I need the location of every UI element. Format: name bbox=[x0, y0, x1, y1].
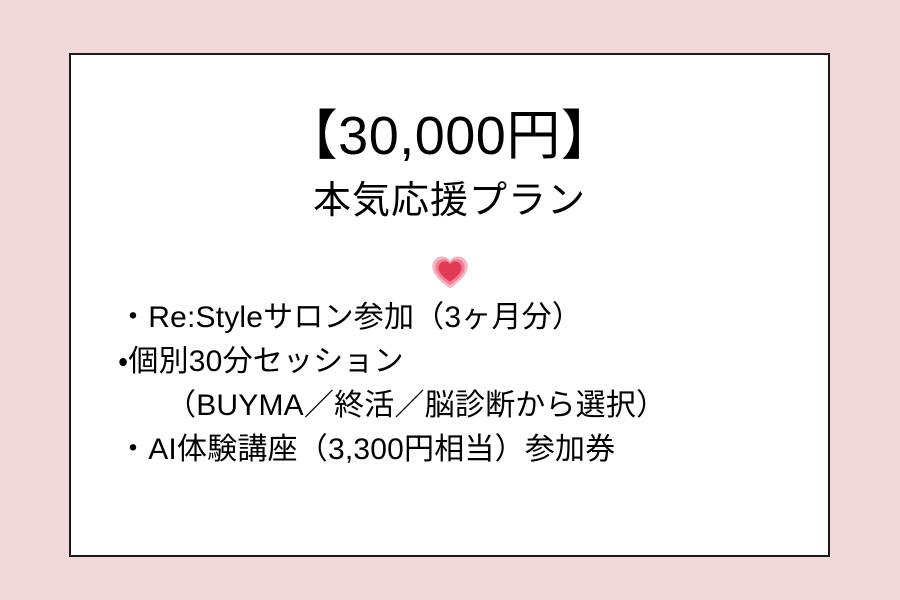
feature-item-continuation: （BUYMA／終活／脳診断から選択） bbox=[118, 384, 808, 428]
growing-heart-icon bbox=[431, 255, 469, 289]
plan-price-title: 【30,000円】 bbox=[71, 107, 828, 165]
feature-list: ・Re:Styleサロン参加（3ヶ月分） ・個別30分セッション （BUYMA／… bbox=[118, 296, 808, 472]
poster-canvas: 【30,000円】 本気応援プラン ・Re:Styleサロン参加（3ヶ月分） ・… bbox=[0, 0, 900, 600]
feature-item: ・個別30分セッション bbox=[118, 340, 808, 384]
plan-name-subtitle: 本気応援プラン bbox=[71, 180, 828, 222]
heart-divider bbox=[71, 252, 828, 292]
plan-card: 【30,000円】 本気応援プラン ・Re:Styleサロン参加（3ヶ月分） ・… bbox=[69, 53, 830, 557]
feature-item: ・Re:Styleサロン参加（3ヶ月分） bbox=[118, 296, 808, 340]
feature-item: ・AI体験講座（3,300円相当）参加券 bbox=[118, 428, 808, 472]
